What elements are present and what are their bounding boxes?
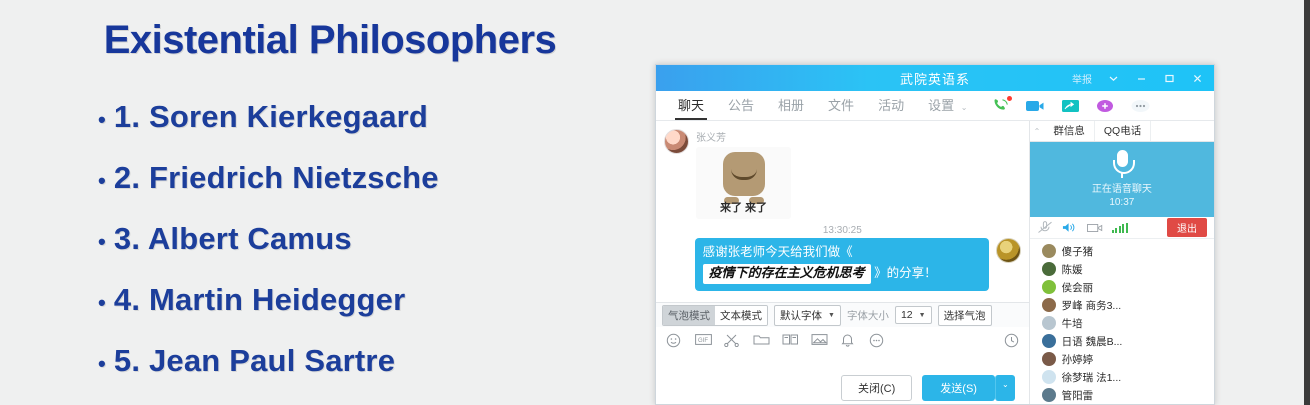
voice-call-icon[interactable] (989, 98, 1011, 114)
voice-status-label: 正在语音聊天 (1092, 183, 1152, 196)
quit-voice-button[interactable]: 退出 (1167, 218, 1207, 237)
voice-chat-panel: 正在语音聊天 10:37 (1030, 142, 1214, 217)
chevron-down-icon: ⌄ (961, 103, 968, 112)
chat-column: 张义芳 来了 来了 13:30:25 感谢张老师今天给我们做《 疫情下的存在主义… (656, 121, 1030, 405)
send-button-row: 关闭(C) 发送(S) ⌄ (656, 373, 1029, 405)
presentation-slide: Existential Philosophers • 1. Soren Kier… (0, 0, 660, 405)
emoji-icon[interactable] (666, 333, 681, 348)
avatar (1042, 388, 1056, 402)
avatar (1042, 352, 1056, 366)
scissors-icon[interactable] (724, 333, 739, 348)
svg-text:GIF: GIF (698, 338, 708, 344)
member-name: 陈媛 (1062, 262, 1083, 277)
chat-tab-bar: 聊天 公告 相册 文件 活动 设置 ⌄ (656, 91, 1214, 121)
send-options-chevron-icon[interactable]: ⌄ (995, 375, 1015, 401)
close-icon[interactable] (1190, 73, 1204, 84)
screen-share-icon[interactable] (1059, 98, 1081, 114)
list-item[interactable]: 罗峰 商务3... (1030, 296, 1214, 314)
screen-right-edge (1304, 0, 1310, 405)
avatar (1042, 370, 1056, 384)
bullet-dot-icon: • (98, 89, 106, 150)
more-icon[interactable] (869, 333, 884, 348)
text-mode-button[interactable]: 文本模式 (715, 306, 767, 325)
tab-chat[interactable]: 聊天 (666, 91, 716, 120)
font-size-select[interactable]: 12 ▼ (895, 306, 932, 324)
message-mode-toggle[interactable]: 气泡模式 文本模式 (662, 305, 768, 326)
chat-action-icons (989, 98, 1151, 114)
add-member-icon[interactable] (1094, 98, 1116, 114)
list-item: • 3. Albert Camus (98, 208, 658, 269)
group-side-panel: ⌃ 群信息 QQ电话 正在语音聊天 10:37 (1030, 121, 1214, 405)
tab-label: 公告 (728, 98, 754, 113)
screenshot-icon[interactable] (782, 333, 797, 348)
list-item[interactable]: 陈媛 (1030, 260, 1214, 278)
maximize-icon[interactable] (1162, 73, 1176, 84)
avatar (1042, 280, 1056, 294)
tab-files[interactable]: 文件 (816, 91, 866, 120)
avatar[interactable] (996, 238, 1021, 263)
member-name: 孙婷婷 (1062, 352, 1094, 367)
shake-icon[interactable] (840, 333, 855, 348)
font-family-value: 默认字体 (780, 308, 822, 323)
editor-tool-toolbar: GIF (656, 327, 1029, 353)
tab-label: 活动 (878, 98, 904, 113)
speaker-on-icon[interactable] (1062, 221, 1078, 234)
sticker-image[interactable]: 来了 来了 (696, 147, 791, 219)
report-button[interactable]: 举报 (1072, 71, 1092, 86)
send-button[interactable]: 发送(S) (922, 375, 995, 401)
image-icon[interactable] (811, 333, 826, 348)
font-family-select[interactable]: 默认字体 ▼ (774, 305, 841, 326)
folder-icon[interactable] (753, 333, 768, 348)
font-size-value: 12 (901, 309, 913, 321)
member-name: 傻子猪 (1062, 244, 1094, 259)
history-icon[interactable] (1004, 333, 1019, 348)
page-title: Existential Philosophers (0, 18, 660, 63)
chevron-down-icon: ▼ (919, 312, 926, 319)
list-item[interactable]: 孙婷婷 (1030, 350, 1214, 368)
chevron-down-icon: ▼ (828, 312, 835, 319)
member-name: 罗峰 商务3... (1062, 298, 1122, 313)
tab-album[interactable]: 相册 (766, 91, 816, 120)
list-item: • 2. Friedrich Nietzsche (98, 147, 658, 208)
avatar[interactable] (664, 129, 689, 154)
microphone-muted-icon[interactable] (1037, 221, 1053, 234)
bullet-list: • 1. Soren Kierkegaard • 2. Friedrich Ni… (98, 86, 658, 391)
member-name: 徐梦瑞 法1... (1062, 370, 1122, 385)
list-item: • 4. Martin Heidegger (98, 269, 658, 330)
tab-label: 相册 (778, 98, 804, 113)
bullet-dot-icon: • (98, 272, 106, 333)
close-button[interactable]: 关闭(C) (841, 375, 912, 401)
gif-icon[interactable]: GIF (695, 333, 710, 348)
message-text-before: 感谢张老师今天给我们做《 (703, 245, 853, 259)
list-item-label: 4. Martin Heidegger (114, 269, 405, 330)
message-text-after: 》的分享！ (874, 266, 937, 280)
message-text-highlight: 疫情下的存在主义危机思考 (703, 264, 871, 284)
sticker-character-icon (723, 152, 765, 196)
tab-announcement[interactable]: 公告 (716, 91, 766, 120)
more-options-icon[interactable] (1129, 98, 1151, 114)
camera-icon[interactable] (1087, 221, 1103, 234)
message-timestamp: 13:30:25 (656, 225, 1029, 236)
member-list[interactable]: 傻子猪 陈媛 侯会丽 罗峰 商务3... 牛培 日语 魏晨B... 孙婷婷 徐梦… (1030, 239, 1214, 405)
send-button-group: 发送(S) ⌄ (922, 375, 1014, 401)
list-item-label: 3. Albert Camus (114, 208, 352, 269)
list-item-label: 1. Soren Kierkegaard (114, 86, 428, 147)
tab-label: 文件 (828, 98, 854, 113)
avatar (1042, 244, 1056, 258)
message-sender: 张义芳 (696, 129, 791, 144)
member-name: 牛培 (1062, 316, 1083, 331)
tab-settings[interactable]: 设置 ⌄ (916, 91, 979, 120)
voice-duration: 10:37 (1109, 196, 1134, 209)
bubble-mode-button[interactable]: 气泡模式 (663, 306, 715, 325)
voice-controls: 退出 (1030, 217, 1214, 239)
choose-bubble-button[interactable]: 选择气泡 (938, 305, 992, 326)
video-call-icon[interactable] (1024, 98, 1046, 114)
tab-group-info[interactable]: 群信息 (1044, 121, 1095, 141)
list-item: • 1. Soren Kierkegaard (98, 86, 658, 147)
minimize-icon[interactable] (1134, 73, 1148, 84)
signal-bars-icon (1112, 221, 1128, 234)
bullet-dot-icon: • (98, 211, 106, 272)
avatar (1042, 262, 1056, 276)
message-bubble[interactable]: 感谢张老师今天给我们做《 疫情下的存在主义危机思考 》的分享！ (695, 238, 989, 291)
list-item[interactable]: 管阳雷 (1030, 386, 1214, 404)
list-item-label: 5. Jean Paul Sartre (114, 330, 395, 391)
tab-activity[interactable]: 活动 (866, 91, 916, 120)
list-item-label: 2. Friedrich Nietzsche (114, 147, 439, 208)
avatar (1042, 316, 1056, 330)
editor-format-toolbar: 气泡模式 文本模式 默认字体 ▼ 字体大小 12 ▼ 选择气泡 (656, 302, 1029, 327)
member-name: 侯会丽 (1062, 280, 1094, 295)
collapse-icon[interactable]: ⌃ (1030, 127, 1045, 136)
message-outgoing: 感谢张老师今天给我们做《 疫情下的存在主义危机思考 》的分享！ (656, 238, 1029, 291)
qq-group-chat-window: 武院英语系 举报 聊天 公告 相册 文件 活动 设置 ⌄ (655, 64, 1215, 405)
member-name: 管阳雷 (1062, 388, 1094, 403)
member-name: 日语 魏晨B... (1062, 334, 1123, 349)
list-item[interactable]: 牛培 (1030, 314, 1214, 332)
microphone-icon (1111, 150, 1133, 180)
tab-label: 聊天 (678, 98, 704, 113)
list-item: • 5. Jean Paul Sartre (98, 330, 658, 391)
bullet-dot-icon: • (98, 150, 106, 211)
list-item[interactable]: 侯会丽 (1030, 278, 1214, 296)
tab-label: 设置 (928, 98, 954, 113)
bullet-dot-icon: • (98, 333, 106, 394)
avatar (1042, 334, 1056, 348)
list-item[interactable]: 徐梦瑞 法1... (1030, 368, 1214, 386)
list-item[interactable]: 日语 魏晨B... (1030, 332, 1214, 350)
window-body: 张义芳 来了 来了 13:30:25 感谢张老师今天给我们做《 疫情下的存在主义… (656, 121, 1214, 405)
list-item[interactable]: 傻子猪 (1030, 242, 1214, 260)
message-incoming: 张义芳 来了 来了 (656, 121, 1029, 219)
avatar (1042, 298, 1056, 312)
sticker-text: 来了 来了 (720, 199, 767, 215)
chevron-down-icon[interactable] (1106, 73, 1120, 84)
notification-badge (1007, 96, 1012, 101)
message-list[interactable]: 张义芳 来了 来了 13:30:25 感谢张老师今天给我们做《 疫情下的存在主义… (656, 121, 1029, 302)
window-titlebar: 武院英语系 举报 (656, 65, 1214, 91)
window-controls: 举报 (1072, 71, 1214, 86)
tab-qq-call[interactable]: QQ电话 (1095, 121, 1151, 141)
message-input[interactable] (656, 353, 1029, 373)
font-size-label: 字体大小 (847, 308, 889, 323)
side-panel-tabs: ⌃ 群信息 QQ电话 (1030, 121, 1214, 142)
